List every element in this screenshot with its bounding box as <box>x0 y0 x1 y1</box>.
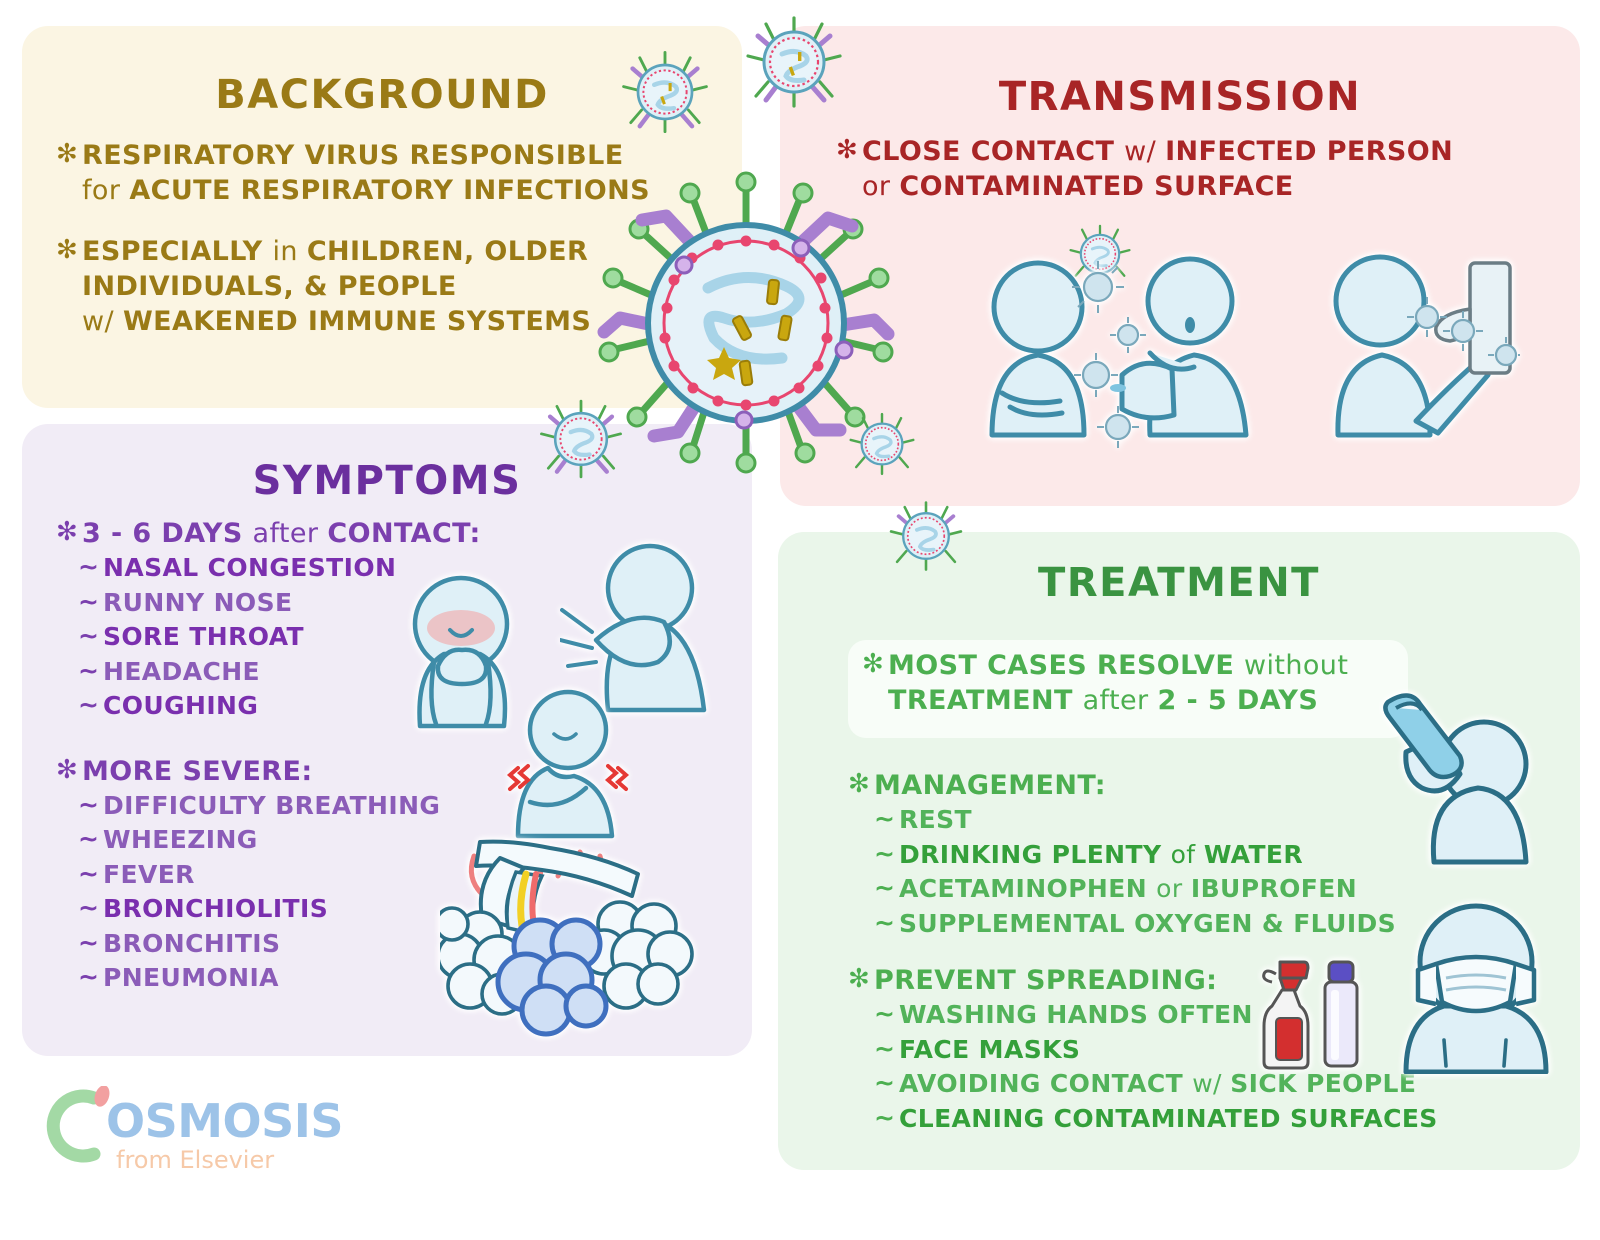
tilde-bullet-icon: ~ <box>874 803 899 836</box>
tx-h-b: TREATMENT <box>888 685 1083 716</box>
tx-p2-lower: w/ <box>1192 1069 1230 1098</box>
tx-m2-lower: or <box>1156 874 1191 903</box>
treatment-item-label: REST <box>899 803 972 838</box>
tilde-bullet-icon: ~ <box>78 689 103 722</box>
star-bullet-icon: ✻ <box>56 234 82 267</box>
person-sore-throat-icon <box>490 680 650 840</box>
symptom-label: SORE THROAT <box>103 620 304 655</box>
star-bullet-icon: ✻ <box>848 963 874 996</box>
treatment-highlight-copy: MOST CASES RESOLVE without TREATMENT aft… <box>888 648 1348 718</box>
treatment-item-label: WASHING HANDS OFTEN <box>899 998 1253 1033</box>
treatment-highlight-text: ✻ MOST CASES RESOLVE without TREATMENT a… <box>862 648 1402 718</box>
bg-b2-l1b: CHILDREN, OLDER <box>307 236 588 267</box>
tx-h-a: MOST CASES RESOLVE <box>888 650 1244 681</box>
transmission-bullet-1: ✻ CLOSE CONTACT w/ INFECTED PERSON or CO… <box>836 134 1536 204</box>
transmission-bullet-1-text: CLOSE CONTACT w/ INFECTED PERSON or CONT… <box>862 134 1453 204</box>
symptoms-group2-header: ✻ MORE SEVERE: <box>56 754 526 789</box>
transmission-bullet-list: ✻ CLOSE CONTACT w/ INFECTED PERSON or CO… <box>836 134 1536 204</box>
star-bullet-icon: ✻ <box>836 134 862 167</box>
tilde-bullet-icon: ~ <box>78 551 103 584</box>
bg-b2-l1-lower: in <box>272 236 306 267</box>
treatment-management-header-text: MANAGEMENT: <box>874 768 1106 803</box>
rsv-virion-small-icon <box>848 410 916 478</box>
background-bullet-2-text: ESPECIALLY in CHILDREN, OLDER INDIVIDUAL… <box>82 234 591 339</box>
symptom-label: BRONCHITIS <box>103 927 280 962</box>
tr-l1a: CLOSE CONTACT <box>862 136 1124 167</box>
osmosis-logo: OSMOSIS from Elsevier <box>44 1078 324 1188</box>
tilde-bullet-icon: ~ <box>78 586 103 619</box>
sym-g1-a: 3 - 6 DAYS <box>82 518 253 549</box>
symptoms-group1-header: ✻ 3 - 6 DAYS after CONTACT: <box>56 516 526 551</box>
tilde-bullet-icon: ~ <box>874 998 899 1031</box>
symptom-label: WHEEZING <box>103 823 258 858</box>
treatment-prevent-header: ✻ PREVENT SPREADING: <box>848 963 1468 998</box>
list-item: ~ DIFFICULTY BREATHING <box>78 789 526 824</box>
star-bullet-icon: ✻ <box>862 648 888 681</box>
rsv-virion-small-icon <box>888 498 964 574</box>
person-wearing-face-mask-icon <box>1392 898 1558 1074</box>
symptom-label: NASAL CONGESTION <box>103 551 396 586</box>
bg-b2-l3-lower: w/ <box>82 306 123 337</box>
list-item: ~ SUPPLEMENTAL OXYGEN & FLUIDS <box>874 907 1468 942</box>
tilde-bullet-icon: ~ <box>78 823 103 856</box>
tx-m2-b: IBUPROFEN <box>1191 874 1357 903</box>
tr-l1b: INFECTED PERSON <box>1165 136 1453 167</box>
tilde-bullet-icon: ~ <box>78 858 103 891</box>
symptom-label: FEVER <box>103 858 195 893</box>
background-bullet-1: ✻ RESPIRATORY VIRUS RESPONSIBLE for ACUT… <box>56 138 676 208</box>
tx-h-c: 2 - 5 DAYS <box>1157 685 1318 716</box>
star-bullet-icon: ✻ <box>848 768 874 801</box>
rsv-virion-small-icon <box>620 46 710 138</box>
tilde-bullet-icon: ~ <box>78 620 103 653</box>
star-bullet-icon: ✻ <box>56 516 82 549</box>
tilde-bullet-icon: ~ <box>78 655 103 688</box>
tr-l2b: CONTAMINATED SURFACE <box>899 171 1293 202</box>
tilde-bullet-icon: ~ <box>78 961 103 994</box>
list-item: ~ FACE MASKS <box>874 1033 1468 1068</box>
bg-b2-l3: WEAKENED IMMUNE SYSTEMS <box>123 306 591 337</box>
list-item: ~ CLEANING CONTAMINATED SURFACES <box>874 1102 1468 1137</box>
tilde-bullet-icon: ~ <box>874 1067 899 1100</box>
background-bullet-1-text: RESPIRATORY VIRUS RESPONSIBLE for ACUTE … <box>82 138 650 208</box>
tx-p2-a: AVOIDING CONTACT <box>899 1069 1192 1098</box>
treatment-item-label: CLEANING CONTAMINATED SURFACES <box>899 1102 1438 1137</box>
list-item: ~ ACETAMINOPHEN or IBUPROFEN <box>874 872 1468 907</box>
tilde-bullet-icon: ~ <box>874 1102 899 1135</box>
alveoli-bronchioles-icon <box>440 828 710 1038</box>
sanitizer-bottle-icon <box>1320 960 1362 1070</box>
list-item: ~ AVOIDING CONTACT w/ SICK PEOPLE <box>874 1067 1468 1102</box>
symptom-label: PNEUMONIA <box>103 961 279 996</box>
sym-g1-lower: after <box>253 518 328 549</box>
bg-b2-l2: INDIVIDUALS, & PEOPLE <box>82 271 457 302</box>
bg-b1-l2-lower: for <box>82 175 129 206</box>
tx-m1-a: DRINKING PLENTY <box>899 840 1171 869</box>
tilde-bullet-icon: ~ <box>78 892 103 925</box>
tilde-bullet-icon: ~ <box>874 838 899 871</box>
symptom-label: HEADACHE <box>103 655 260 690</box>
treatment-item-label: ACETAMINOPHEN or IBUPROFEN <box>899 872 1357 907</box>
treatment-item-label: SUPPLEMENTAL OXYGEN & FLUIDS <box>899 907 1396 942</box>
tilde-bullet-icon: ~ <box>874 872 899 905</box>
symptoms-group1-header-text: 3 - 6 DAYS after CONTACT: <box>82 516 481 551</box>
treatment-item-label: AVOIDING CONTACT w/ SICK PEOPLE <box>899 1067 1416 1102</box>
symptom-label: RUNNY NOSE <box>103 586 292 621</box>
bg-b2-l1a: ESPECIALLY <box>82 236 272 267</box>
rsv-virion-small-icon <box>744 12 844 112</box>
tilde-bullet-icon: ~ <box>78 789 103 822</box>
person-drinking-water-icon <box>1374 686 1550 866</box>
tilde-bullet-icon: ~ <box>78 927 103 960</box>
transmission-illustration <box>950 235 1520 475</box>
rsv-virion-small-icon <box>538 396 624 482</box>
bg-b1-l1: RESPIRATORY VIRUS RESPONSIBLE <box>82 140 624 171</box>
tx-h-lower2: after <box>1083 685 1158 716</box>
treatment-item-label: DRINKING PLENTY of WATER <box>899 838 1303 873</box>
bg-b1-l2: ACUTE RESPIRATORY INFECTIONS <box>129 175 650 206</box>
star-bullet-icon: ✻ <box>56 754 82 787</box>
tilde-bullet-icon: ~ <box>874 907 899 940</box>
tx-h-lower: without <box>1244 650 1348 681</box>
treatment-prevent-header-text: PREVENT SPREADING: <box>874 963 1217 998</box>
tr-l1-lower: w/ <box>1124 136 1165 167</box>
treatment-highlight-bullet: ✻ MOST CASES RESOLVE without TREATMENT a… <box>862 648 1402 718</box>
osmosis-arc-icon <box>44 1086 114 1166</box>
tilde-bullet-icon: ~ <box>874 1033 899 1066</box>
star-bullet-icon: ✻ <box>56 138 82 171</box>
background-bullet-2: ✻ ESPECIALLY in CHILDREN, OLDER INDIVIDU… <box>56 234 676 339</box>
osmosis-subtitle: from Elsevier <box>116 1146 274 1174</box>
tx-m2-a: ACETAMINOPHEN <box>899 874 1156 903</box>
symptom-label: BRONCHIOLITIS <box>103 892 328 927</box>
list-item: ~ WASHING HANDS OFTEN <box>874 998 1468 1033</box>
spray-bottle-icon <box>1258 958 1314 1070</box>
tx-m1-lower: of <box>1171 840 1204 869</box>
background-bullet-list: ✻ RESPIRATORY VIRUS RESPONSIBLE for ACUT… <box>56 138 676 339</box>
sym-g1-b: CONTACT: <box>327 518 480 549</box>
symptom-label: COUGHING <box>103 689 258 724</box>
tx-p2-b: SICK PEOPLE <box>1230 1069 1416 1098</box>
osmosis-wordmark: OSMOSIS <box>106 1094 343 1148</box>
treatment-item-label: FACE MASKS <box>899 1033 1080 1068</box>
symptoms-group2-header-text: MORE SEVERE: <box>82 754 313 789</box>
symptom-label: DIFFICULTY BREATHING <box>103 789 440 824</box>
panel-title-transmission: TRANSMISSION <box>780 74 1580 120</box>
tx-m1-b: WATER <box>1204 840 1303 869</box>
